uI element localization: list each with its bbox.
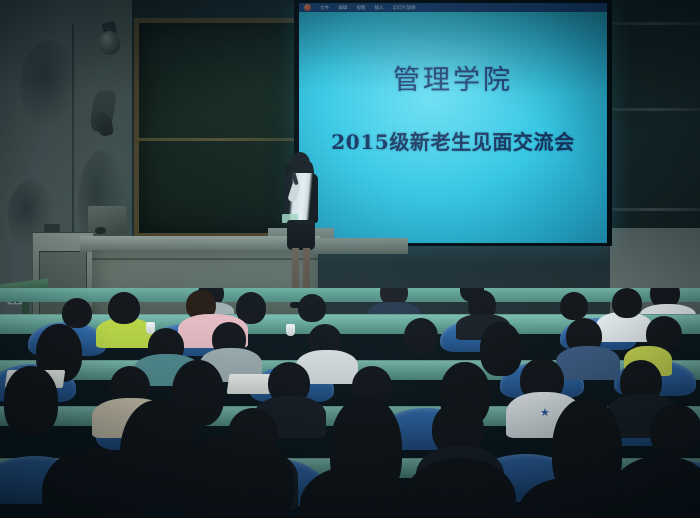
wall-stain <box>20 40 80 130</box>
paper-cup <box>286 324 295 336</box>
chalkboard-rail <box>610 208 700 211</box>
audience-head <box>612 288 642 318</box>
audience-head <box>298 294 326 322</box>
audience-area: ★ <box>0 288 700 518</box>
av-equipment <box>44 224 60 232</box>
audience-head <box>4 366 58 436</box>
presenter-skirt <box>287 220 315 250</box>
audience-head <box>650 404 700 458</box>
audience-head <box>560 292 588 320</box>
dome-security-camera-icon <box>99 31 120 55</box>
audience-shoulders <box>556 346 620 380</box>
audience-head <box>176 434 294 518</box>
chalkboard-rail <box>610 108 700 111</box>
computer-mouse <box>95 227 106 234</box>
screen-vignette <box>299 3 607 243</box>
audience-head <box>62 298 92 328</box>
audience-head <box>480 322 522 376</box>
chalkboard-rail <box>139 138 300 141</box>
projection-screen: 文件 编辑 视图 插入 幻灯片放映 管理学院 2015级新老生见面交流会 <box>299 3 607 243</box>
podium-monitor <box>88 206 126 234</box>
audience-head <box>404 318 438 354</box>
chalkboard-rail <box>610 22 700 25</box>
chalkboard-right <box>610 0 700 262</box>
desk-row <box>0 288 700 302</box>
audience-head <box>108 292 140 324</box>
lecture-hall-photo: 文件 编辑 视图 插入 幻灯片放映 管理学院 2015级新老生见面交流会 <box>0 0 700 518</box>
